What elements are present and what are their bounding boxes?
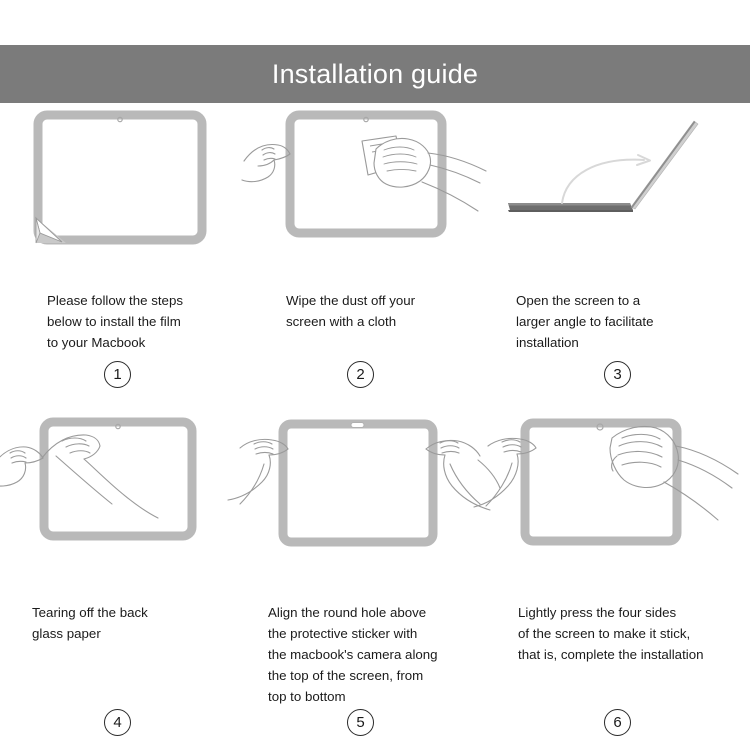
step-panel-3: Open the screen to a larger angle to fac…	[500, 103, 750, 408]
step-caption: Please follow the steps below to install…	[47, 290, 237, 353]
steps-row-bottom: Tearing off the back glass paper 4	[0, 408, 750, 750]
step-caption: Align the round hole above the protectiv…	[268, 602, 483, 707]
step-panel-4: Tearing off the back glass paper 4	[0, 408, 250, 750]
illustration-press-screen-edges	[500, 408, 750, 556]
steps-row-top: Please follow the steps below to install…	[0, 103, 750, 408]
step-number-badge: 2	[347, 361, 374, 388]
step-caption: Lightly press the four sides of the scre…	[518, 602, 743, 665]
step-number-badge: 1	[104, 361, 131, 388]
illustration-laptop-open-angle	[500, 103, 750, 251]
step-number-badge: 4	[104, 709, 131, 736]
step-caption: Wipe the dust off your screen with a clo…	[286, 290, 476, 332]
step-panel-5: Align the round hole above the protectiv…	[250, 408, 500, 750]
illustration-tear-backing-paper	[0, 408, 250, 556]
illustration-wipe-screen-cloth	[250, 103, 500, 251]
installation-steps-grid: Please follow the steps below to install…	[0, 103, 750, 750]
step-number-badge: 3	[604, 361, 631, 388]
illustration-align-film-two-hands	[250, 408, 500, 556]
page-title: Installation guide	[272, 61, 478, 88]
illustration-tablet-peeling-film	[0, 103, 250, 251]
header-banner: Installation guide	[0, 45, 750, 103]
step-caption: Open the screen to a larger angle to fac…	[516, 290, 716, 353]
step-panel-1: Please follow the steps below to install…	[0, 103, 250, 408]
step-number-badge: 5	[347, 709, 374, 736]
step-caption: Tearing off the back glass paper	[32, 602, 222, 644]
step-panel-6: Lightly press the four sides of the scre…	[500, 408, 750, 750]
step-panel-2: Wipe the dust off your screen with a clo…	[250, 103, 500, 408]
step-number-badge: 6	[604, 709, 631, 736]
